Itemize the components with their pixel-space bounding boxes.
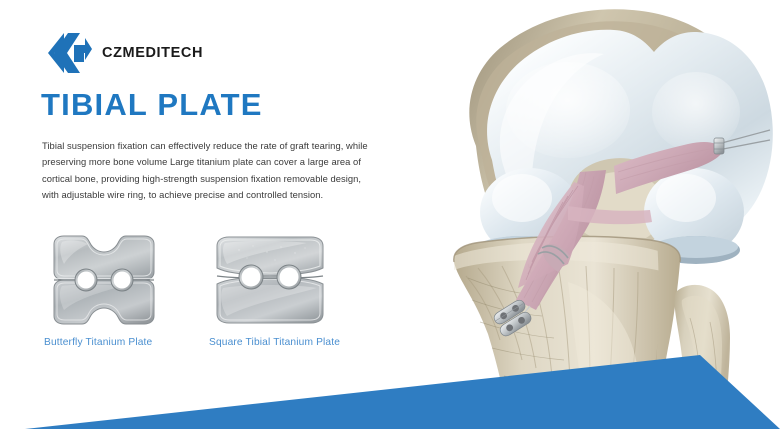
- description-line-3: cortical bone, providing high-strength s…: [42, 171, 402, 187]
- description-line-4: with adjustable wire ring, to achieve pr…: [42, 187, 402, 203]
- poster-canvas: CZMEDITECH TIBIAL PLATE Tibial suspensio…: [0, 0, 780, 429]
- knee-anatomy-illustration: [418, 0, 780, 429]
- butterfly-plate-bottom-half: [54, 280, 154, 324]
- description-line-2: preserving more bone volume Large titani…: [42, 154, 402, 170]
- description-text: Tibial suspension fixation can effective…: [42, 138, 402, 203]
- square-plate-bottom-half: [217, 276, 323, 323]
- butterfly-plate-top-half: [54, 236, 154, 280]
- page-title: TIBIAL PLATE: [41, 87, 263, 123]
- tibia-bone: [454, 236, 680, 429]
- czmeditech-chevron-arrow-logo: [48, 31, 92, 75]
- brand-logo: CZMEDITECH: [48, 31, 203, 75]
- square-plate-top-half: [217, 237, 323, 276]
- caption-square-plate: Square Tibial Titanium Plate: [209, 337, 340, 348]
- brand-name: CZMEDITECH: [102, 45, 203, 61]
- fibula-bone: [675, 285, 730, 429]
- caption-butterfly-plate: Butterfly Titanium Plate: [44, 337, 152, 348]
- description-line-1: Tibial suspension fixation can effective…: [42, 138, 402, 154]
- product-image-square-plate: [209, 234, 331, 326]
- product-image-butterfly-plate: [44, 234, 164, 326]
